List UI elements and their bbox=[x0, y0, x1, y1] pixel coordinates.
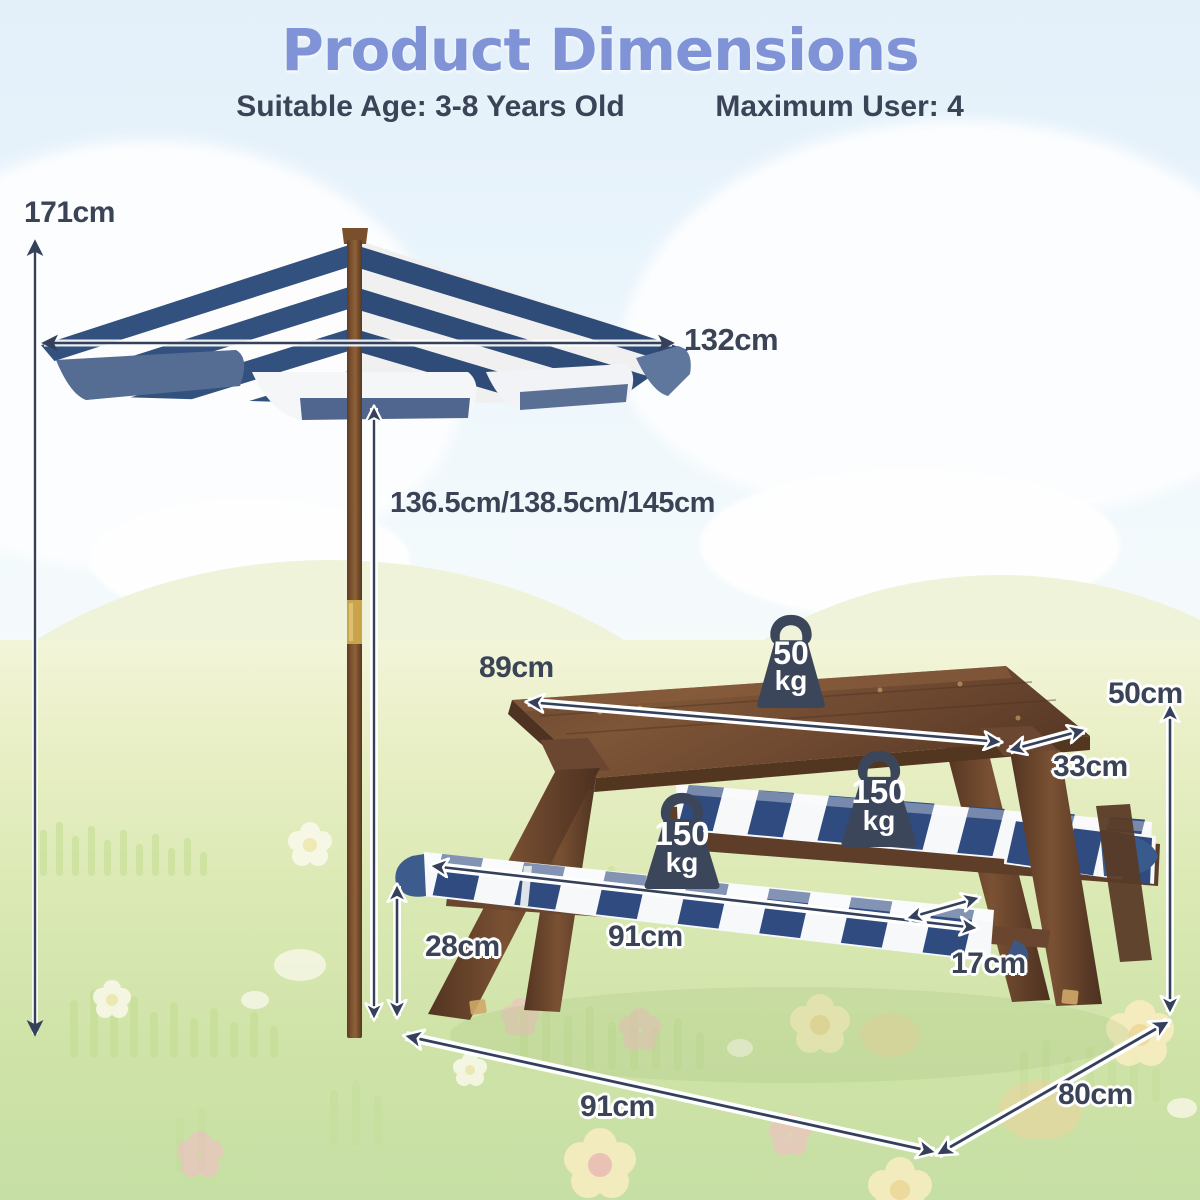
dimension-label-bench-height: 28cm bbox=[425, 930, 500, 964]
header-subline: Suitable Age: 3-8 Years Old Maximum User… bbox=[0, 90, 1200, 124]
weight-badge-front-bench: 150 kg bbox=[629, 790, 735, 890]
suitable-age-text: Suitable Age: 3-8 Years Old bbox=[236, 90, 624, 123]
dimension-label-table-length: 89cm bbox=[479, 651, 554, 685]
weight-unit: kg bbox=[863, 808, 896, 835]
header: Product Dimensions Suitable Age: 3-8 Yea… bbox=[0, 0, 1200, 145]
weight-unit: kg bbox=[775, 668, 808, 695]
dimension-label-table-width: 33cm bbox=[1053, 750, 1128, 784]
maximum-user-text: Maximum User: 4 bbox=[715, 90, 963, 123]
weight-badge-text: 50 kg bbox=[744, 611, 838, 709]
dimension-label-table-height: 50cm bbox=[1108, 677, 1183, 711]
dimension-label-footprint-length: 91cm bbox=[580, 1090, 655, 1124]
dimension-label-pole-height: 136.5cm/138.5cm/145cm bbox=[390, 487, 715, 520]
weight-badge-text: 150 kg bbox=[826, 748, 932, 848]
dimension-label-umbrella-width: 132cm bbox=[684, 322, 778, 358]
weight-badge-tabletop: 50 kg bbox=[744, 611, 838, 709]
weight-badge-back-bench: 150 kg bbox=[826, 748, 932, 848]
weight-unit: kg bbox=[666, 850, 699, 877]
weight-amount: 150 bbox=[851, 776, 906, 807]
dimension-label-bench-length: 91cm bbox=[608, 920, 683, 954]
product-dimensions-infographic: Product Dimensions Suitable Age: 3-8 Yea… bbox=[0, 0, 1200, 1200]
weight-badge-text: 150 kg bbox=[629, 790, 735, 890]
dimension-label-footprint-width: 80cm bbox=[1058, 1078, 1133, 1112]
weight-amount: 50 bbox=[773, 638, 809, 668]
dimension-label-bench-depth: 17cm bbox=[951, 947, 1026, 981]
page-title: Product Dimensions bbox=[0, 0, 1200, 84]
weight-amount: 150 bbox=[654, 818, 709, 849]
dimension-label-umbrella-height: 171cm bbox=[24, 196, 115, 230]
